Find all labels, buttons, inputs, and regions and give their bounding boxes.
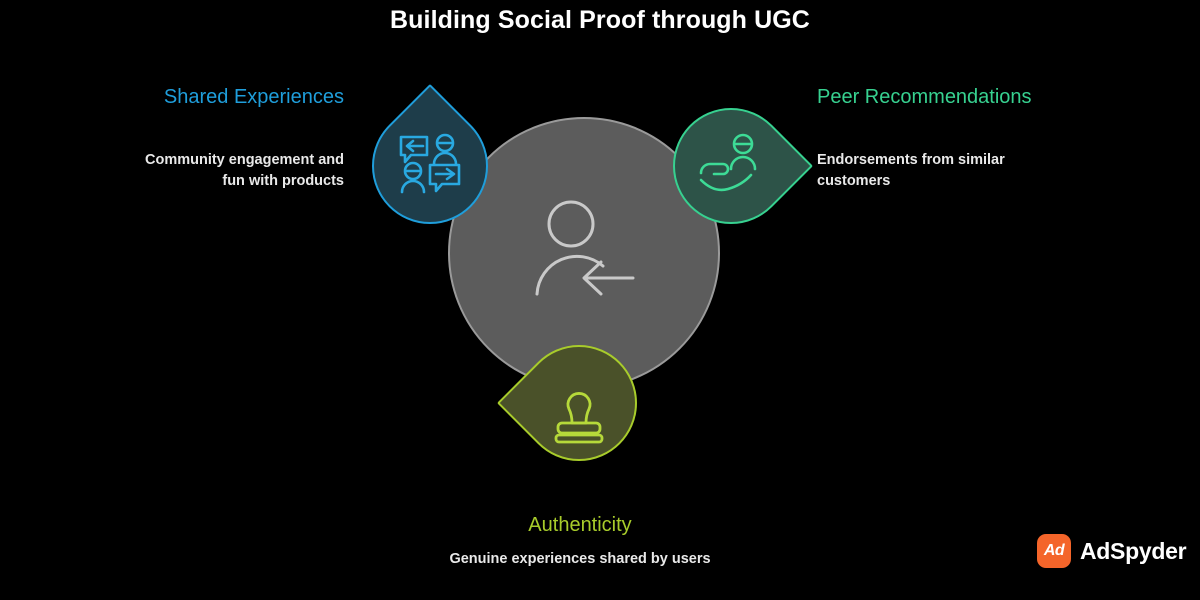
hand-holding-person-icon bbox=[698, 131, 764, 197]
diagram-stage: Shared Experiences Community engagement … bbox=[0, 0, 1200, 600]
rubber-stamp-icon bbox=[546, 385, 612, 451]
two-people-speech-bubbles-exchange-icon bbox=[397, 131, 463, 197]
brand-mark-label: Ad bbox=[1037, 534, 1071, 568]
node-title-peer-recommendations: Peer Recommendations bbox=[817, 84, 1047, 111]
brand-name: AdSpyder bbox=[1080, 538, 1186, 565]
diagram-canvas: Building Social Proof through UGC bbox=[0, 0, 1200, 600]
node-title-shared-experiences: Shared Experiences bbox=[144, 84, 344, 111]
brand-logo[interactable]: Ad AdSpyder bbox=[1037, 534, 1186, 568]
node-description-shared-experiences: Community engagement and fun with produc… bbox=[144, 150, 344, 192]
user-inbound-arrow-icon bbox=[529, 196, 639, 306]
node-title-authenticity: Authenticity bbox=[440, 512, 720, 539]
node-description-authenticity: Genuine experiences shared by users bbox=[440, 549, 720, 570]
adspyder-mark-icon: Ad bbox=[1037, 534, 1071, 568]
node-description-peer-recommendations: Endorsements from similar customers bbox=[817, 150, 1032, 192]
